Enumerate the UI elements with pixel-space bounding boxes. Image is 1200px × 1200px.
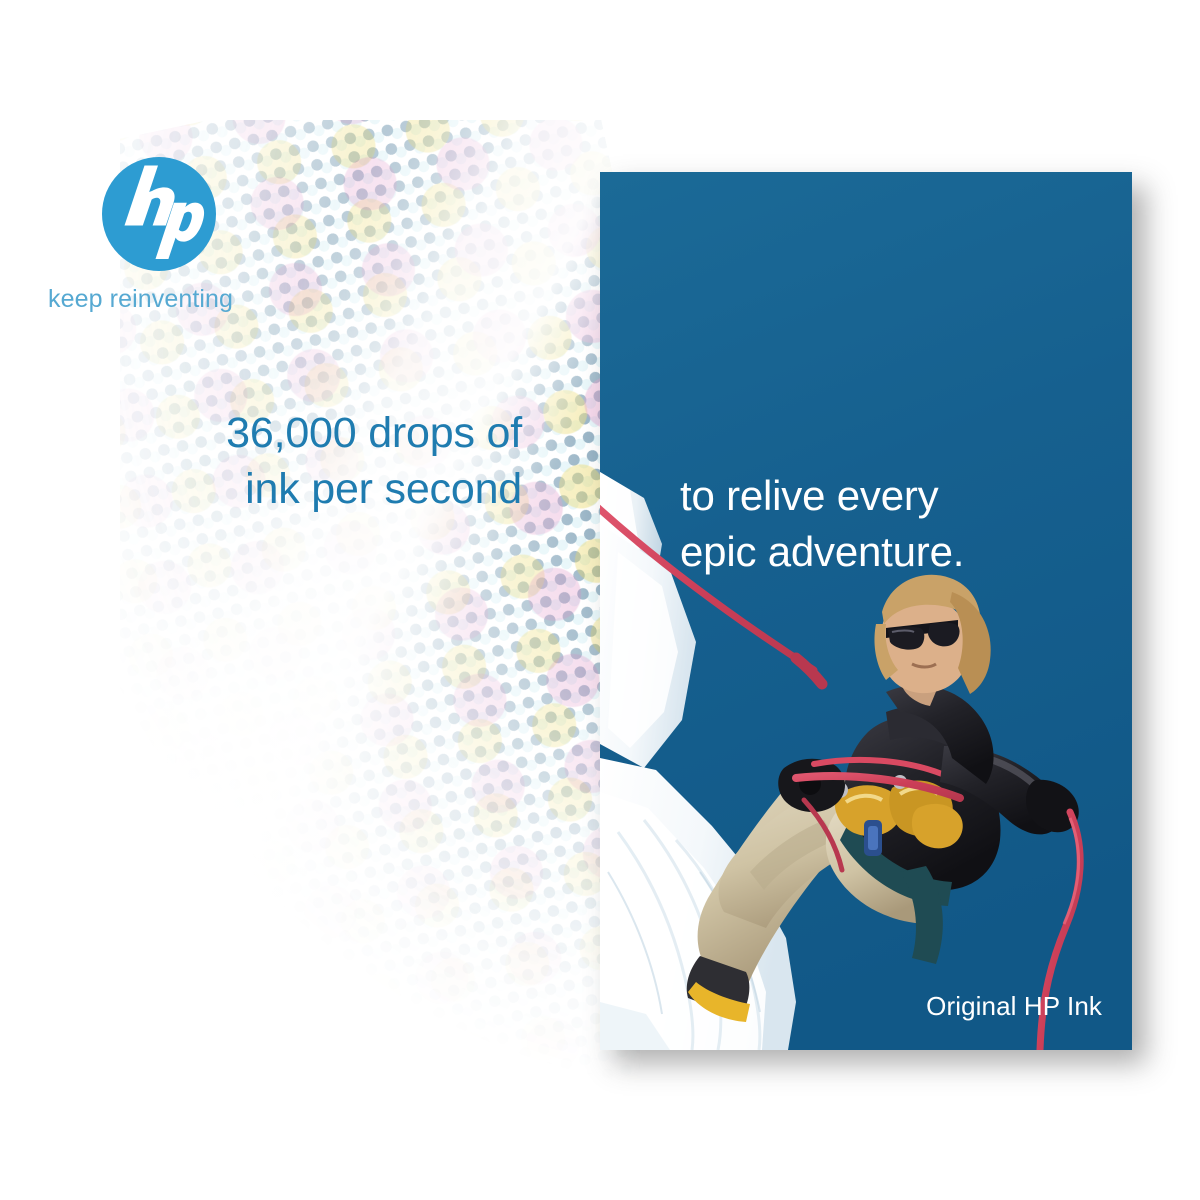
panel-headline: to relive every epic adventure. — [680, 468, 964, 581]
left-headline-line-1: 36,000 drops of — [120, 406, 522, 462]
hp-tagline: keep reinventing — [48, 285, 278, 314]
panel-headline-line-2: epic adventure. — [680, 524, 964, 580]
hp-ink-advertisement: keep reinventing 36,000 drops of ink per… — [0, 0, 1200, 1200]
climber-photograph — [600, 172, 1132, 1050]
panel-headline-line-1: to relive every — [680, 468, 964, 524]
hp-logo-icon — [100, 155, 218, 273]
left-headline-line-2: ink per second — [120, 462, 522, 518]
hp-brand-lockup: keep reinventing — [48, 155, 278, 314]
left-headline: 36,000 drops of ink per second — [120, 406, 522, 518]
image-panel: to relive every epic adventure. Original… — [600, 172, 1132, 1050]
original-hp-ink-label: Original HP Ink — [926, 991, 1102, 1022]
